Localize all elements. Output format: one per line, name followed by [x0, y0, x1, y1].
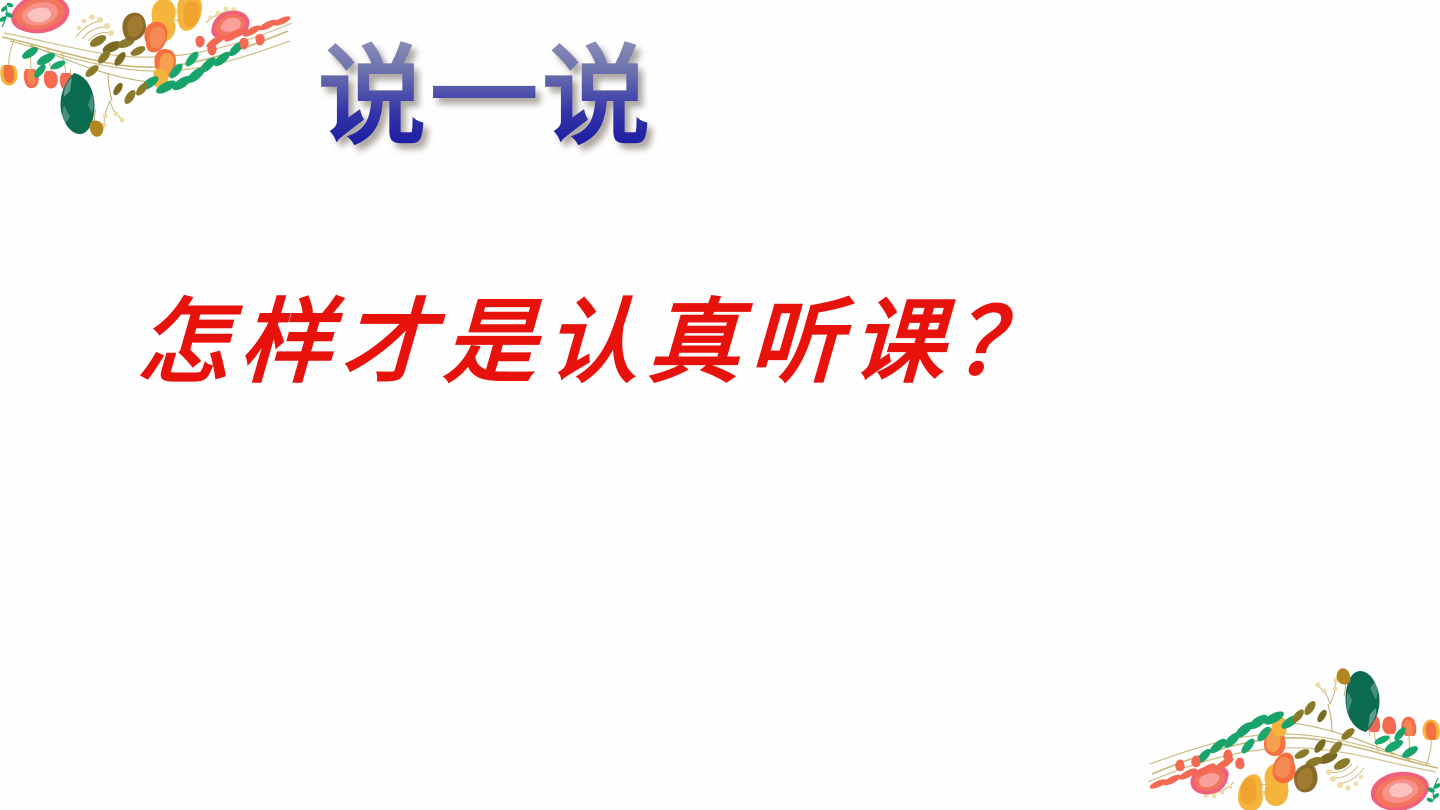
floral-branch-top-left-icon [0, 0, 300, 152]
slide-canvas: 说一说 怎样才是认真听课？ [0, 0, 1440, 810]
page-title-text: 说一说 [318, 34, 654, 160]
page-title: 说一说 [318, 28, 738, 168]
floral-branch-bottom-right-icon [1140, 653, 1440, 808]
question-text: 怎样才是认真听课？ [136, 280, 1100, 404]
